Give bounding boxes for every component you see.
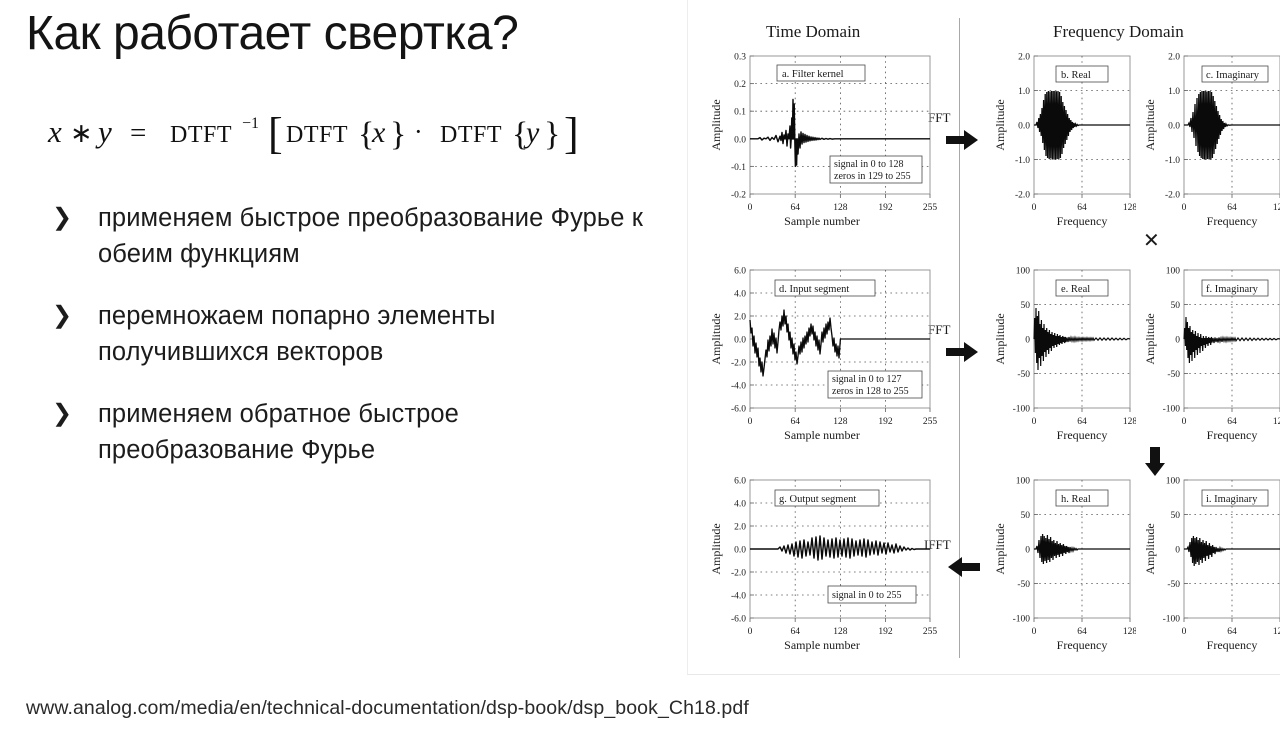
panel-h-y-ticks: 100 50 0 -50 -100 — [1013, 477, 1031, 625]
svg-text:0: 0 — [748, 417, 753, 427]
panel-e-y-ticks: 100 50 0 -50 -100 — [1013, 267, 1031, 415]
svg-text:64: 64 — [1077, 417, 1087, 427]
svg-text:100: 100 — [1166, 267, 1181, 277]
panel-i-imaginary: i. Imaginary 100 50 0 -50 -100 0 64 128 — [1136, 468, 1280, 663]
svg-text:192: 192 — [878, 203, 893, 213]
panel-e-y-axis-title: Amplitude — [993, 313, 1007, 364]
svg-text:-2.0: -2.0 — [731, 569, 746, 579]
panel-c-imaginary: c. Imaginary 2.0 1.0 0.0 -1.0 -2.0 0 64 … — [1136, 44, 1280, 239]
svg-text:-50: -50 — [1017, 580, 1030, 590]
formula-brace-close-x: } — [390, 116, 406, 153]
panel-f-label-box: f. Imaginary — [1202, 280, 1268, 296]
svg-text:64: 64 — [790, 203, 800, 213]
panel-e-x-ticks: 0 64 128 — [1032, 417, 1136, 427]
svg-text:-4.0: -4.0 — [731, 382, 746, 392]
svg-text:64: 64 — [1077, 203, 1087, 213]
svg-text:0: 0 — [1032, 417, 1037, 427]
svg-text:0: 0 — [1032, 627, 1037, 637]
panel-a-x-axis-title: Sample number — [784, 214, 860, 228]
svg-text:0: 0 — [748, 627, 753, 637]
panel-b-label-box: b. Real — [1056, 66, 1108, 82]
chevron-right-icon: ❯ — [48, 396, 98, 430]
panel-e-label-box: e. Real — [1056, 280, 1108, 296]
svg-text:6.0: 6.0 — [734, 477, 746, 487]
svg-text:-6.0: -6.0 — [731, 615, 746, 625]
panel-d-x-ticks: 0 64 128 192 255 — [748, 417, 938, 427]
panel-d-y-ticks: 6.0 4.0 2.0 0.0 -2.0 -4.0 -6.0 — [731, 267, 746, 415]
svg-text:0: 0 — [1032, 203, 1037, 213]
list-item-label: применяем быстрое преобразование Фурье к… — [98, 200, 658, 272]
formula-dot-operator: · — [414, 117, 423, 146]
svg-text:-50: -50 — [1017, 370, 1030, 380]
panel-g-x-axis-title: Sample number — [784, 638, 860, 652]
svg-text:-4.0: -4.0 — [731, 592, 746, 602]
svg-text:4.0: 4.0 — [734, 500, 746, 510]
panel-g-y-axis-title: Amplitude — [709, 523, 723, 574]
svg-text:50: 50 — [1021, 301, 1031, 311]
svg-text:192: 192 — [878, 627, 893, 637]
source-url[interactable]: www.analog.com/media/en/technical-docume… — [26, 697, 749, 720]
svg-text:-100: -100 — [1013, 405, 1031, 415]
svg-text:0.0: 0.0 — [734, 135, 746, 145]
svg-text:50: 50 — [1171, 301, 1181, 311]
svg-text:-0.2: -0.2 — [731, 191, 746, 201]
panel-g-x-ticks: 0 64 128 192 255 — [748, 627, 938, 637]
svg-text:255: 255 — [923, 417, 938, 427]
formula-svg: x ∗ y = DTFT −1 [ DTFT { x } · DTFT { y … — [46, 100, 646, 162]
panel-c-x-ticks: 0 64 128 — [1182, 203, 1280, 213]
svg-text:128: 128 — [1273, 627, 1280, 637]
formula-var-y: y — [523, 116, 540, 149]
svg-text:128: 128 — [1273, 417, 1280, 427]
panel-a-label-box: a. Filter kernel — [777, 65, 865, 81]
list-item: ❯ перемножаем попарно элементы получивши… — [48, 298, 658, 370]
panel-a-x-ticks: 0 64 128 192 255 — [748, 203, 938, 213]
svg-text:128: 128 — [833, 417, 848, 427]
panel-f-y-ticks: 100 50 0 -50 -100 — [1163, 267, 1181, 415]
panel-c-y-axis-title: Amplitude — [1143, 99, 1157, 150]
panel-a-filter-kernel: a. Filter kernel signal in 0 to 128 zero… — [702, 44, 952, 239]
chevron-right-icon: ❯ — [48, 298, 98, 332]
slide-root: Как работает свертка? x ∗ y = DTFT −1 [ … — [0, 0, 1280, 738]
svg-text:0: 0 — [1175, 546, 1180, 556]
bullet-list: ❯ применяем быстрое преобразование Фурье… — [48, 200, 658, 494]
panel-d-y-axis-title: Amplitude — [709, 313, 723, 364]
list-item-label: перемножаем попарно элементы получившихс… — [98, 298, 658, 370]
panel-a-annotation-box: signal in 0 to 128 zeros in 129 to 255 — [830, 156, 922, 183]
svg-text:0.2: 0.2 — [734, 80, 746, 90]
svg-text:2.0: 2.0 — [1168, 53, 1180, 63]
panel-h-label-box: h. Real — [1056, 490, 1108, 506]
formula-conv-operator: ∗ — [70, 118, 93, 148]
svg-text:2.0: 2.0 — [734, 313, 746, 323]
panel-d-label: d. Input segment — [779, 284, 849, 295]
panel-e-label: e. Real — [1061, 284, 1090, 295]
svg-text:0.0: 0.0 — [734, 336, 746, 346]
chevron-right-icon: ❯ — [48, 200, 98, 234]
panel-d-x-axis-title: Sample number — [784, 428, 860, 442]
svg-text:50: 50 — [1171, 511, 1181, 521]
panel-g-annotation-box: signal in 0 to 255 — [828, 586, 916, 603]
formula-dtft-x: DTFT — [286, 122, 348, 148]
svg-text:50: 50 — [1021, 511, 1031, 521]
panel-i-y-ticks: 100 50 0 -50 -100 — [1163, 477, 1181, 625]
formula-dtft-y: DTFT — [440, 122, 502, 148]
panel-c-x-axis-title: Frequency — [1207, 214, 1258, 228]
formula-brace-close-y: } — [544, 116, 560, 153]
svg-text:2.0: 2.0 — [1018, 53, 1030, 63]
panel-b-y-ticks: 2.0 1.0 0.0 -1.0 -2.0 — [1015, 53, 1030, 201]
svg-text:100: 100 — [1166, 477, 1181, 487]
panel-i-x-axis-title: Frequency — [1207, 638, 1258, 652]
svg-text:-100: -100 — [1163, 615, 1181, 625]
panel-a-annotation-line2: zeros in 129 to 255 — [834, 171, 911, 182]
svg-text:64: 64 — [790, 417, 800, 427]
panel-a-y-axis-title: Amplitude — [709, 99, 723, 150]
list-item-label: применяем обратное быстрое преобразовани… — [98, 396, 658, 468]
svg-text:64: 64 — [1077, 627, 1087, 637]
panel-i-label-box: i. Imaginary — [1202, 490, 1268, 506]
svg-text:0: 0 — [1182, 203, 1187, 213]
panel-e-real: e. Real 100 50 0 -50 -100 0 64 128 Fre — [986, 258, 1136, 453]
panel-b-y-axis-title: Amplitude — [993, 99, 1007, 150]
svg-text:-0.1: -0.1 — [731, 163, 746, 173]
formula-var-x: x — [371, 116, 386, 149]
svg-text:64: 64 — [1227, 417, 1237, 427]
panel-f-x-ticks: 0 64 128 — [1182, 417, 1280, 427]
formula-y: y — [95, 114, 112, 149]
svg-text:-1.0: -1.0 — [1165, 156, 1180, 166]
svg-text:-2.0: -2.0 — [1165, 191, 1180, 201]
page-title: Как работает свертка? — [26, 8, 666, 61]
panel-g-output-segment: g. Output segment signal in 0 to 255 6.0… — [702, 468, 952, 663]
time-domain-header: Time Domain — [766, 22, 860, 42]
panel-a-label: a. Filter kernel — [782, 69, 844, 80]
panel-c-label-box: c. Imaginary — [1202, 66, 1268, 82]
svg-text:0.0: 0.0 — [1168, 122, 1180, 132]
svg-text:64: 64 — [1227, 203, 1237, 213]
svg-text:2.0: 2.0 — [734, 523, 746, 533]
svg-text:128: 128 — [1123, 417, 1136, 427]
svg-text:64: 64 — [1227, 627, 1237, 637]
svg-text:-50: -50 — [1167, 370, 1180, 380]
panel-e-x-axis-title: Frequency — [1057, 428, 1108, 442]
panel-i-label: i. Imaginary — [1206, 494, 1258, 505]
svg-text:64: 64 — [790, 627, 800, 637]
svg-text:255: 255 — [923, 203, 938, 213]
panel-g-label-box: g. Output segment — [775, 490, 879, 506]
svg-text:128: 128 — [1273, 203, 1280, 213]
panel-f-label: f. Imaginary — [1206, 284, 1259, 295]
svg-text:1.0: 1.0 — [1018, 87, 1030, 97]
formula-equals: = — [130, 117, 146, 149]
panel-a-annotation-line1: signal in 0 to 128 — [834, 159, 903, 170]
svg-text:100: 100 — [1016, 267, 1031, 277]
svg-text:128: 128 — [833, 203, 848, 213]
svg-text:0.0: 0.0 — [1018, 122, 1030, 132]
svg-text:0: 0 — [1175, 336, 1180, 346]
svg-text:100: 100 — [1016, 477, 1031, 487]
frequency-domain-header: Frequency Domain — [1053, 22, 1184, 42]
svg-text:0.3: 0.3 — [734, 53, 746, 63]
svg-text:0.1: 0.1 — [734, 108, 746, 118]
panel-f-y-axis-title: Amplitude — [1143, 313, 1157, 364]
panel-b-x-ticks: 0 64 128 — [1032, 203, 1136, 213]
svg-text:4.0: 4.0 — [734, 290, 746, 300]
panel-h-x-ticks: 0 64 128 — [1032, 627, 1136, 637]
panel-i-y-axis-title: Amplitude — [1143, 523, 1157, 574]
panel-b-real: b. Real 2.0 1.0 0.0 -1.0 -2.0 0 64 128 — [986, 44, 1136, 239]
panel-i-x-ticks: 0 64 128 — [1182, 627, 1280, 637]
svg-text:-2.0: -2.0 — [731, 359, 746, 369]
list-item: ❯ применяем обратное быстрое преобразова… — [48, 396, 658, 468]
panel-h-real: h. Real 100 50 0 -50 -100 0 64 128 Fre — [986, 468, 1136, 663]
svg-text:0: 0 — [1025, 336, 1030, 346]
panel-a-y-ticks: 0.3 0.2 0.1 0.0 -0.1 -0.2 — [731, 53, 746, 201]
panel-d-annotation-line2: zeros in 128 to 255 — [832, 386, 909, 397]
formula-bracket-open: [ — [268, 109, 283, 158]
svg-text:-100: -100 — [1163, 405, 1181, 415]
svg-text:0: 0 — [1025, 546, 1030, 556]
svg-text:0: 0 — [1182, 627, 1187, 637]
svg-text:0.0: 0.0 — [734, 546, 746, 556]
list-item: ❯ применяем быстрое преобразование Фурье… — [48, 200, 658, 272]
svg-text:128: 128 — [1123, 627, 1136, 637]
panel-g-annotation-line1: signal in 0 to 255 — [832, 590, 901, 601]
panel-c-label: c. Imaginary — [1206, 70, 1260, 81]
svg-text:0: 0 — [1182, 417, 1187, 427]
formula-bracket-close: ] — [564, 109, 579, 158]
panel-d-input-segment: d. Input segment signal in 0 to 127 zero… — [702, 258, 952, 453]
dsp-figure: Time Domain Frequency Domain FFT FFT IFF… — [687, 0, 1280, 675]
panel-f-x-axis-title: Frequency — [1207, 428, 1258, 442]
panel-c-y-ticks: 2.0 1.0 0.0 -1.0 -2.0 — [1165, 53, 1180, 201]
panel-f-imaginary: f. Imaginary 100 50 0 -50 -100 0 64 128 — [1136, 258, 1280, 453]
svg-text:128: 128 — [1123, 203, 1136, 213]
panel-b-label: b. Real — [1061, 70, 1091, 81]
svg-text:255: 255 — [923, 627, 938, 637]
panel-d-annotation-box: signal in 0 to 127 zeros in 128 to 255 — [828, 371, 922, 398]
panel-h-y-axis-title: Amplitude — [993, 523, 1007, 574]
panel-d-annotation-line1: signal in 0 to 127 — [832, 374, 901, 385]
svg-text:6.0: 6.0 — [734, 267, 746, 277]
panel-h-label: h. Real — [1061, 494, 1091, 505]
panel-h-x-axis-title: Frequency — [1057, 638, 1108, 652]
svg-text:-6.0: -6.0 — [731, 405, 746, 415]
svg-text:-50: -50 — [1167, 580, 1180, 590]
svg-text:128: 128 — [833, 627, 848, 637]
svg-text:0: 0 — [748, 203, 753, 213]
panel-g-y-ticks: 6.0 4.0 2.0 0.0 -2.0 -4.0 -6.0 — [731, 477, 746, 625]
panel-d-label-box: d. Input segment — [775, 280, 875, 296]
svg-text:1.0: 1.0 — [1168, 87, 1180, 97]
svg-text:-100: -100 — [1013, 615, 1031, 625]
formula-dtft-inverse: DTFT — [170, 122, 232, 148]
convolution-formula: x ∗ y = DTFT −1 [ DTFT { x } · DTFT { y … — [46, 100, 666, 160]
formula-inverse-exponent: −1 — [242, 115, 259, 132]
panel-b-x-axis-title: Frequency — [1057, 214, 1108, 228]
svg-text:-2.0: -2.0 — [1015, 191, 1030, 201]
svg-text:-1.0: -1.0 — [1015, 156, 1030, 166]
svg-text:192: 192 — [878, 417, 893, 427]
panel-g-label: g. Output segment — [779, 494, 856, 505]
formula-x: x — [47, 114, 62, 149]
